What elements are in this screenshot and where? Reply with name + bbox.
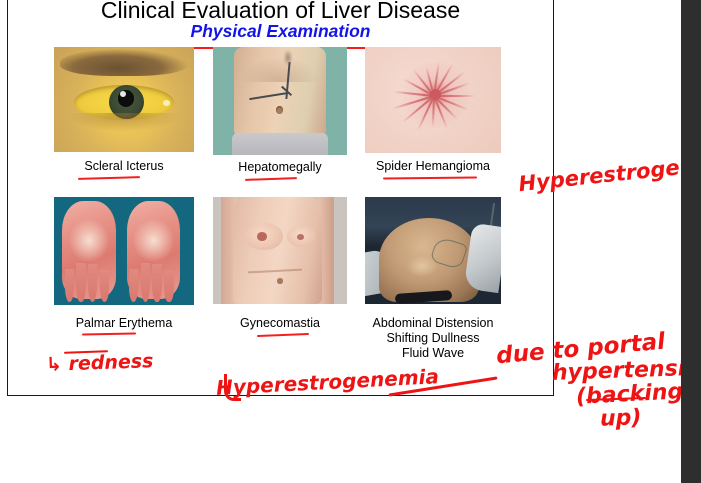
ink-stroke-descender (224, 374, 241, 401)
figure-spider-hemangioma: Spider Hemangioma (365, 47, 501, 167)
page-subtitle: Physical Examination (8, 21, 553, 41)
ink-underline-palmar-erythema (82, 333, 136, 336)
spider-angioma-skin-photo (365, 47, 501, 153)
ink-underline-scleral-icterus (78, 176, 140, 180)
caption-abdominal-distension-line3: Fluid Wave (365, 346, 501, 361)
slide-card: Clinical Evaluation of Liver Disease Phy… (7, 0, 554, 396)
caption-hepatomegaly: Hepatomegally (213, 160, 347, 175)
caption-spider-hemangioma: Spider Hemangioma (365, 159, 501, 174)
caption-abdominal-distension-line2: Shifting Dullness (365, 331, 501, 346)
figure-gynecomastia: Gynecomastia (213, 197, 347, 357)
slide-content: Clinical Evaluation of Liver Disease Phy… (8, 0, 553, 395)
caption-abdominal-distension-line1: Abdominal Distension (365, 316, 501, 331)
caption-scleral-icterus: Scleral Icterus (54, 159, 194, 174)
ink-underline-gynecomastia (257, 333, 309, 337)
annotation-redness: ↳ redness (46, 350, 154, 376)
ink-underline-spider-hemangioma (383, 177, 477, 180)
yellow-eye-photo (54, 47, 194, 152)
caption-gynecomastia: Gynecomastia (213, 316, 347, 331)
figure-hepatomegaly: Hepatomegally (213, 47, 347, 167)
caption-palmar-erythema: Palmar Erythema (54, 316, 194, 331)
right-gutter-band (681, 0, 701, 483)
ink-underline-hepatomegaly (245, 177, 297, 181)
abdomen-liver-margin-photo (213, 47, 347, 155)
page-title: Clinical Evaluation of Liver Disease (8, 0, 553, 23)
male-breast-enlargement-photo (213, 197, 347, 304)
ascites-distended-abdomen-photo (365, 197, 501, 304)
red-palms-photo (54, 197, 194, 305)
annotation-up: up) (600, 405, 642, 431)
figure-palmar-erythema: Palmar Erythema (54, 197, 194, 337)
figure-abdominal-distension: Abdominal Distension Shifting Dullness F… (365, 197, 501, 357)
figure-scleral-icterus: Scleral Icterus (54, 47, 194, 167)
